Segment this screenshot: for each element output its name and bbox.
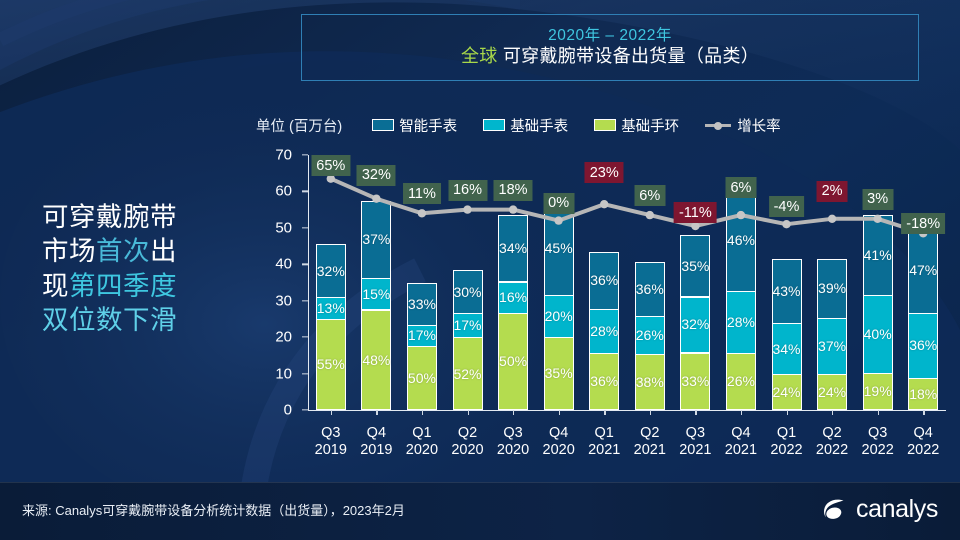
legend-label-smart-watch: 智能手表 (399, 115, 457, 136)
bar-segment-smart[interactable]: 41% (863, 215, 893, 295)
bar-segment-label: 37% (362, 231, 390, 247)
x-axis-label: Q42020 (543, 425, 575, 459)
bar-column[interactable]: 41%40%19% (863, 215, 893, 410)
headline-line-4: 双位数下滑 (42, 303, 252, 337)
growth-rate-badge: 3% (862, 189, 893, 210)
bar-segment-label: 55% (317, 356, 345, 372)
headline-line-3: 现第四季度 (42, 269, 252, 303)
x-axis-tick-mark (787, 410, 788, 415)
bar-column[interactable]: 45%20%35% (544, 201, 574, 410)
segment-divider (635, 354, 665, 355)
bar-segment-label: 36% (590, 373, 618, 389)
x-axis-label-year: 2022 (770, 442, 802, 459)
segment-divider (817, 318, 847, 319)
x-axis-line (308, 410, 946, 411)
x-axis-tick-mark (695, 410, 696, 415)
growth-rate-badge: -18% (901, 213, 945, 234)
x-axis-label: Q12022 (770, 425, 802, 459)
bar-segment-label: 50% (499, 353, 527, 369)
bar-segment-label: 35% (545, 365, 573, 381)
bar-column[interactable]: 43%34%24% (772, 259, 802, 410)
x-axis-labels: Q32019Q42019Q12020Q22020Q32020Q42020Q120… (308, 425, 948, 469)
x-axis-label-quarter: Q3 (315, 425, 347, 442)
bar-segment-band[interactable]: 52% (453, 337, 483, 410)
bar-segment-smart[interactable]: 36% (589, 252, 619, 309)
x-axis-label-quarter: Q4 (543, 425, 575, 442)
bar-segment-label: 50% (408, 370, 436, 386)
bar-segment-label: 26% (636, 327, 664, 343)
growth-rate-badge: 11% (403, 183, 441, 204)
headline-seg-2b: 首次 (96, 236, 150, 266)
x-axis-label-year: 2021 (679, 442, 711, 459)
x-axis-label: Q12020 (406, 425, 438, 459)
bar-segment-label: 18% (909, 386, 937, 402)
y-axis-tick-label: 20 (252, 329, 292, 346)
bar-segment-label: 46% (727, 232, 755, 248)
headline-seg-4: 双位数下滑 (42, 305, 177, 335)
bar-segment-label: 32% (681, 316, 709, 332)
x-axis-label: Q42019 (360, 425, 392, 459)
x-axis-tick-mark (376, 410, 377, 415)
bar-segment-label: 40% (864, 326, 892, 342)
segment-divider (498, 281, 528, 282)
bar-segment-label: 33% (408, 296, 436, 312)
x-axis-label-quarter: Q1 (406, 425, 438, 442)
bar-segment-label: 36% (590, 272, 618, 288)
bar-column[interactable]: 47%36%18% (908, 228, 938, 410)
segment-divider (635, 316, 665, 317)
bar-segment-band[interactable]: 18% (908, 378, 938, 410)
legend-item-smart-watch[interactable]: 智能手表 (372, 115, 457, 136)
bar-segment-label: 28% (727, 314, 755, 330)
segment-divider (316, 319, 346, 320)
x-axis-label-year: 2021 (725, 442, 757, 459)
bar-segment-label: 36% (636, 281, 664, 297)
x-axis-label-quarter: Q2 (816, 425, 848, 442)
x-axis-label-quarter: Q4 (360, 425, 392, 442)
bar-segment-basicwatch[interactable]: 37% (817, 318, 847, 374)
growth-rate-badge: 6% (634, 185, 665, 206)
x-axis-label: Q32019 (315, 425, 347, 459)
bar-segment-smart[interactable]: 32% (316, 244, 346, 297)
x-axis-label-year: 2022 (816, 442, 848, 459)
bar-column[interactable]: 39%37%24% (817, 259, 847, 410)
bar-segment-smart[interactable]: 35% (680, 235, 710, 296)
bar-segment-label: 16% (499, 289, 527, 305)
x-axis-label-quarter: Q2 (634, 425, 666, 442)
x-axis-label-year: 2019 (360, 442, 392, 459)
bar-segment-smart[interactable]: 43% (772, 259, 802, 323)
headline-line-1: 可穿戴腕带 (42, 200, 252, 234)
legend-item-basic-band[interactable]: 基础手环 (594, 115, 679, 136)
y-axis-tick-mark (302, 264, 308, 265)
x-axis-label-year: 2020 (406, 442, 438, 459)
x-axis-label: Q32022 (862, 425, 894, 459)
growth-rate-badge: 6% (725, 177, 756, 198)
x-axis-label-quarter: Q1 (770, 425, 802, 442)
bar-segment-label: 38% (636, 374, 664, 390)
segment-divider (908, 378, 938, 379)
bar-segment-label: 34% (772, 341, 800, 357)
x-axis-tick-mark (832, 410, 833, 415)
bar-segment-basicwatch[interactable]: 28% (726, 291, 756, 353)
x-axis-tick-mark (923, 410, 924, 415)
bar-segment-band[interactable]: 36% (589, 353, 619, 410)
headline-seg-2c: 出 (150, 236, 177, 266)
segment-divider (772, 374, 802, 375)
bar-segment-band[interactable]: 55% (316, 319, 346, 410)
bar-segment-band[interactable]: 33% (680, 352, 710, 410)
headline-text: 可穿戴腕带 市场首次出 现第四季度 双位数下滑 (42, 200, 252, 338)
x-axis-tick-mark (422, 410, 423, 415)
x-axis-label-year: 2022 (862, 442, 894, 459)
growth-rate-badge: -11% (674, 202, 717, 223)
bar-segment-label: 17% (408, 327, 436, 343)
bar-segment-label: 35% (681, 258, 709, 274)
bar-segment-label: 30% (453, 284, 481, 300)
bar-segment-label: 43% (772, 283, 800, 299)
y-axis-tick-mark (302, 154, 308, 155)
y-axis-tick-label: 10 (252, 365, 292, 382)
x-axis-tick-mark (559, 410, 560, 415)
x-axis-label: Q22022 (816, 425, 848, 459)
segment-divider (589, 353, 619, 354)
x-axis-label: Q22021 (634, 425, 666, 459)
y-axis-tick-label: 30 (252, 292, 292, 309)
canalys-mark-icon (819, 494, 849, 524)
legend-line-marker-icon-growth-rate (705, 119, 731, 131)
segment-divider (316, 297, 346, 298)
bar-segment-label: 13% (317, 300, 345, 316)
legend-item-growth-rate[interactable]: 增长率 (705, 115, 781, 136)
y-axis-tick-mark (302, 227, 308, 228)
bar-segment-band[interactable]: 50% (498, 313, 528, 410)
canalys-wordmark: canalys (856, 495, 938, 524)
bar-segment-basicwatch[interactable]: 17% (407, 325, 437, 347)
segment-divider (498, 313, 528, 314)
footer-divider (0, 482, 960, 483)
headline-seg-1: 可穿戴腕带 (42, 202, 177, 232)
segment-divider (544, 337, 574, 338)
stacked-bar-chart: 010203040506070 32%13%55%37%15%48%33%17%… (256, 155, 946, 425)
y-axis-tick-mark (302, 373, 308, 374)
bar-segment-smart[interactable]: 36% (635, 262, 665, 315)
x-axis-label-year: 2020 (451, 442, 483, 459)
growth-rate-badge: 65% (311, 155, 350, 176)
bar-segment-label: 37% (818, 338, 846, 354)
source-note: 来源: Canalys可穿戴腕带设备分析统计数据（出货量），2023年2月 (22, 500, 405, 519)
slide-root: 2020年 – 2022年 全球 可穿戴腕带设备出货量（品类） 单位 (百万台)… (0, 0, 960, 540)
bar-segment-label: 32% (317, 263, 345, 279)
bar-segment-band[interactable]: 38% (635, 354, 665, 410)
growth-rate-badge: 32% (357, 165, 396, 186)
x-axis-label: Q42021 (725, 425, 757, 459)
x-axis-label-quarter: Q1 (588, 425, 620, 442)
y-axis-tick-label: 70 (252, 147, 292, 164)
unit-label: 单位 (百万台) (256, 115, 342, 136)
y-axis-tick-mark (302, 300, 308, 301)
bar-segment-basicwatch[interactable]: 36% (908, 313, 938, 378)
x-axis-label: Q12021 (588, 425, 620, 459)
bar-column[interactable]: 37%15%48% (361, 201, 391, 410)
bar-segment-label: 36% (909, 337, 937, 353)
bar-segment-label: 20% (545, 308, 573, 324)
x-axis-label-quarter: Q3 (862, 425, 894, 442)
growth-rate-badge: -4% (769, 196, 805, 217)
bar-column[interactable]: 46%28%26% (726, 190, 756, 410)
bar-segment-smart[interactable]: 46% (726, 190, 756, 291)
growth-rate-badge: 16% (448, 180, 487, 201)
segment-divider (544, 295, 574, 296)
x-axis-label: Q32021 (679, 425, 711, 459)
growth-rate-badge: 2% (817, 181, 848, 202)
bar-segment-label: 17% (453, 317, 481, 333)
y-axis-tick-label: 40 (252, 256, 292, 273)
x-axis-label-year: 2021 (588, 442, 620, 459)
y-axis-tick-label: 60 (252, 183, 292, 200)
bar-segment-basicwatch[interactable]: 40% (863, 295, 893, 373)
x-axis-tick-mark (741, 410, 742, 415)
x-axis-label-year: 2022 (907, 442, 939, 459)
headline-seg-2a: 市场 (42, 236, 96, 266)
segment-divider (361, 309, 391, 310)
x-axis-tick-mark (468, 410, 469, 415)
bar-segment-smart[interactable]: 47% (908, 228, 938, 313)
y-axis-tick-mark (302, 191, 308, 192)
segment-divider (680, 352, 710, 353)
bar-segment-band[interactable]: 35% (544, 337, 574, 410)
bar-segment-band[interactable]: 24% (772, 374, 802, 410)
bar-segment-basicwatch[interactable]: 17% (453, 313, 483, 337)
x-axis-label-year: 2019 (315, 442, 347, 459)
headline-line-2: 市场首次出 (42, 234, 252, 268)
bar-segment-band[interactable]: 24% (817, 374, 847, 410)
chart-legend: 单位 (百万台) 智能手表 基础手表 基础手环 增长率 (256, 112, 926, 138)
bar-segment-label: 47% (909, 262, 937, 278)
segment-divider (361, 278, 391, 279)
y-axis-tick-label: 0 (252, 402, 292, 419)
canalys-logo: canalys (819, 494, 938, 524)
headline-seg-3a: 现 (42, 271, 69, 301)
bar-segment-label: 52% (453, 366, 481, 382)
footer: 来源: Canalys可穿戴腕带设备分析统计数据（出货量），2023年2月 ca… (0, 482, 960, 540)
legend-swatch-icon-basic-watch (483, 119, 505, 131)
bar-segment-band[interactable]: 48% (361, 309, 391, 410)
x-axis-label-quarter: Q4 (907, 425, 939, 442)
x-axis-label-year: 2020 (543, 442, 575, 459)
title-rest: 可穿戴腕带设备出货量（品类） (498, 46, 760, 66)
legend-label-basic-band: 基础手环 (621, 115, 679, 136)
title-period: 2020年 – 2022年 (548, 27, 672, 45)
x-axis-label-quarter: Q3 (497, 425, 529, 442)
bar-segment-label: 24% (772, 384, 800, 400)
bar-segment-label: 45% (545, 240, 573, 256)
x-axis-label-year: 2020 (497, 442, 529, 459)
bar-segment-label: 26% (727, 373, 755, 389)
legend-label-growth-rate: 增长率 (737, 115, 781, 136)
bar-segment-basicwatch[interactable]: 26% (635, 316, 665, 354)
legend-item-basic-watch[interactable]: 基础手表 (483, 115, 568, 136)
bar-segment-smart[interactable]: 30% (453, 271, 483, 313)
bar-column[interactable]: 30%17%52% (453, 270, 483, 410)
segment-divider (453, 313, 483, 314)
x-axis-tick-mark (513, 410, 514, 415)
y-axis-tick-mark (302, 409, 308, 410)
bar-segment-basicwatch[interactable]: 15% (361, 278, 391, 309)
y-axis-tick-mark (302, 336, 308, 337)
segment-divider (453, 337, 483, 338)
title-region: 全球 (461, 46, 498, 66)
legend-swatch-icon-smart-watch (372, 119, 394, 131)
x-axis-label-quarter: Q4 (725, 425, 757, 442)
bar-segment-label: 24% (818, 384, 846, 400)
bar-column[interactable]: 33%17%50% (407, 283, 437, 411)
bar-segment-basicwatch[interactable]: 28% (589, 309, 619, 353)
bar-segment-basicwatch[interactable]: 13% (316, 297, 346, 319)
bar-segment-smart[interactable]: 34% (498, 215, 528, 281)
title-box: 2020年 – 2022年 全球 可穿戴腕带设备出货量（品类） (301, 14, 919, 81)
x-axis-label-quarter: Q2 (451, 425, 483, 442)
bar-column[interactable]: 32%13%55% (316, 244, 346, 410)
segment-divider (772, 323, 802, 324)
bar-segment-basicwatch[interactable]: 32% (680, 296, 710, 352)
y-axis-tick-label: 50 (252, 219, 292, 236)
segment-divider (407, 346, 437, 347)
bar-segment-label: 33% (681, 373, 709, 389)
growth-rate-badge: 0% (543, 193, 574, 214)
bar-segment-smart[interactable]: 33% (407, 283, 437, 325)
legend-label-basic-watch: 基础手表 (510, 115, 568, 136)
bar-segment-label: 48% (362, 352, 390, 368)
bar-segment-label: 15% (362, 286, 390, 302)
bar-column[interactable]: 34%16%50% (498, 215, 528, 410)
bar-segment-basicwatch[interactable]: 34% (772, 323, 802, 374)
segment-divider (863, 373, 893, 374)
segment-divider (407, 325, 437, 326)
segment-divider (726, 353, 756, 354)
x-axis-label: Q32020 (497, 425, 529, 459)
x-axis-tick-mark (650, 410, 651, 415)
growth-rate-badge: 18% (494, 180, 533, 201)
bar-segment-basicwatch[interactable]: 20% (544, 295, 574, 337)
bar-segment-smart[interactable]: 39% (817, 259, 847, 318)
bar-segment-band[interactable]: 50% (407, 346, 437, 410)
bar-column[interactable]: 36%28%36% (589, 252, 619, 410)
x-axis-label-year: 2021 (634, 442, 666, 459)
bar-segment-band[interactable]: 26% (726, 353, 756, 410)
bar-segment-label: 34% (499, 240, 527, 256)
bar-segment-label: 39% (818, 280, 846, 296)
legend-swatch-icon-basic-band (594, 119, 616, 131)
segment-divider (908, 313, 938, 314)
x-axis-tick-mark (878, 410, 879, 415)
y-axis: 010203040506070 (256, 155, 302, 425)
headline-seg-3b: 第四季度 (69, 271, 177, 301)
x-axis-label: Q22020 (451, 425, 483, 459)
bar-column[interactable]: 36%26%38% (635, 262, 665, 410)
bar-segment-smart[interactable]: 37% (361, 201, 391, 279)
bar-segment-label: 19% (864, 383, 892, 399)
segment-divider (726, 291, 756, 292)
segment-divider (680, 296, 710, 297)
x-axis-label: Q42022 (907, 425, 939, 459)
x-axis-label-quarter: Q3 (679, 425, 711, 442)
segment-divider (589, 309, 619, 310)
bar-column[interactable]: 35%32%33% (680, 235, 710, 410)
bar-segment-label: 41% (864, 247, 892, 263)
bar-segment-smart[interactable]: 45% (544, 201, 574, 295)
segment-divider (863, 295, 893, 296)
page-title: 全球 可穿戴腕带设备出货量（品类） (461, 46, 759, 68)
segment-divider (817, 374, 847, 375)
x-axis-tick-mark (604, 410, 605, 415)
bar-segment-label: 28% (590, 323, 618, 339)
growth-rate-badge: 23% (585, 162, 624, 183)
x-axis-tick-mark (331, 410, 332, 415)
bar-segment-band[interactable]: 19% (863, 373, 893, 410)
bar-segment-basicwatch[interactable]: 16% (498, 281, 528, 312)
